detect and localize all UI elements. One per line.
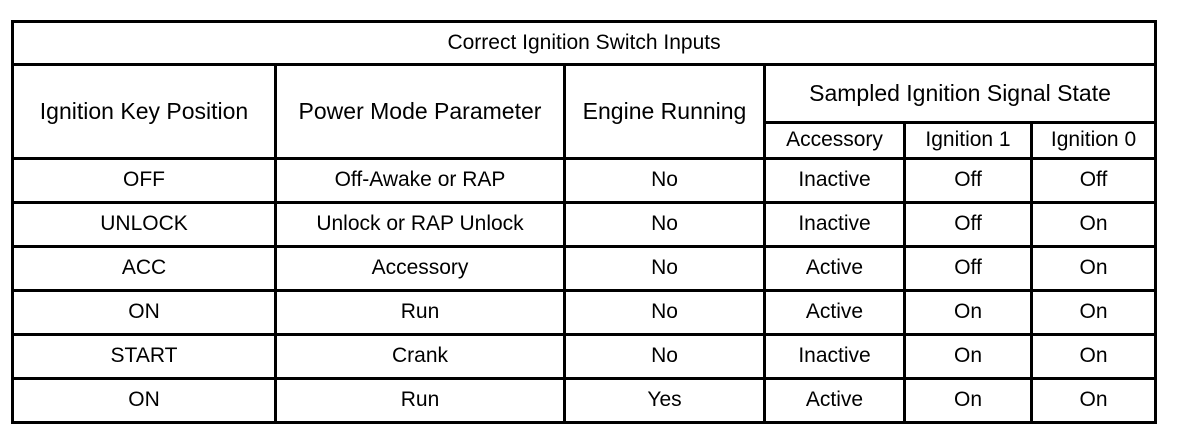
cell-ignition-1: On (905, 335, 1032, 379)
column-header-group-sampled-ignition-signal-state: Sampled Ignition Signal State (765, 65, 1156, 123)
table-row: ACC Accessory No Active Off On (13, 247, 1156, 291)
table-row: OFF Off-Awake or RAP No Inactive Off Off (13, 159, 1156, 203)
cell-engine-running: No (565, 159, 765, 203)
table-title: Correct Ignition Switch Inputs (13, 22, 1156, 65)
column-header-ignition-key-position: Ignition Key Position (13, 65, 276, 159)
column-header-ignition-0: Ignition 0 (1032, 123, 1156, 159)
cell-ignition-key-position: ON (13, 291, 276, 335)
cell-ignition-key-position: OFF (13, 159, 276, 203)
cell-power-mode-parameter: Crank (276, 335, 565, 379)
cell-engine-running: No (565, 291, 765, 335)
cell-engine-running: No (565, 335, 765, 379)
table-row: UNLOCK Unlock or RAP Unlock No Inactive … (13, 203, 1156, 247)
cell-ignition-1: On (905, 291, 1032, 335)
cell-ignition-1: Off (905, 247, 1032, 291)
cell-engine-running: No (565, 247, 765, 291)
cell-ignition-0: On (1032, 203, 1156, 247)
column-header-engine-running: Engine Running (565, 65, 765, 159)
cell-ignition-0: On (1032, 291, 1156, 335)
table-row: START Crank No Inactive On On (13, 335, 1156, 379)
table-head: Correct Ignition Switch Inputs Ignition … (13, 22, 1156, 159)
table-body: OFF Off-Awake or RAP No Inactive Off Off… (13, 159, 1156, 423)
cell-accessory: Active (765, 247, 905, 291)
table-title-row: Correct Ignition Switch Inputs (13, 22, 1156, 65)
column-header-ignition-1: Ignition 1 (905, 123, 1032, 159)
cell-ignition-1: Off (905, 159, 1032, 203)
cell-power-mode-parameter: Off-Awake or RAP (276, 159, 565, 203)
table-row: ON Run No Active On On (13, 291, 1156, 335)
cell-ignition-key-position: ACC (13, 247, 276, 291)
cell-accessory: Inactive (765, 159, 905, 203)
cell-power-mode-parameter: Accessory (276, 247, 565, 291)
table-header-row-primary: Ignition Key Position Power Mode Paramet… (13, 65, 1156, 123)
cell-ignition-0: Off (1032, 159, 1156, 203)
cell-ignition-key-position: START (13, 335, 276, 379)
cell-ignition-0: On (1032, 247, 1156, 291)
ignition-switch-table-container: Correct Ignition Switch Inputs Ignition … (11, 20, 1154, 395)
cell-ignition-0: On (1032, 335, 1156, 379)
column-header-accessory: Accessory (765, 123, 905, 159)
cell-power-mode-parameter: Unlock or RAP Unlock (276, 203, 565, 247)
cell-ignition-key-position: UNLOCK (13, 203, 276, 247)
column-header-power-mode-parameter: Power Mode Parameter (276, 65, 565, 159)
cell-accessory: Inactive (765, 203, 905, 247)
cell-ignition-1: Off (905, 203, 1032, 247)
cell-accessory: Inactive (765, 335, 905, 379)
cell-engine-running: No (565, 203, 765, 247)
cell-accessory: Active (765, 291, 905, 335)
cell-power-mode-parameter: Run (276, 291, 565, 335)
correct-ignition-switch-inputs-table: Correct Ignition Switch Inputs Ignition … (11, 20, 1157, 424)
